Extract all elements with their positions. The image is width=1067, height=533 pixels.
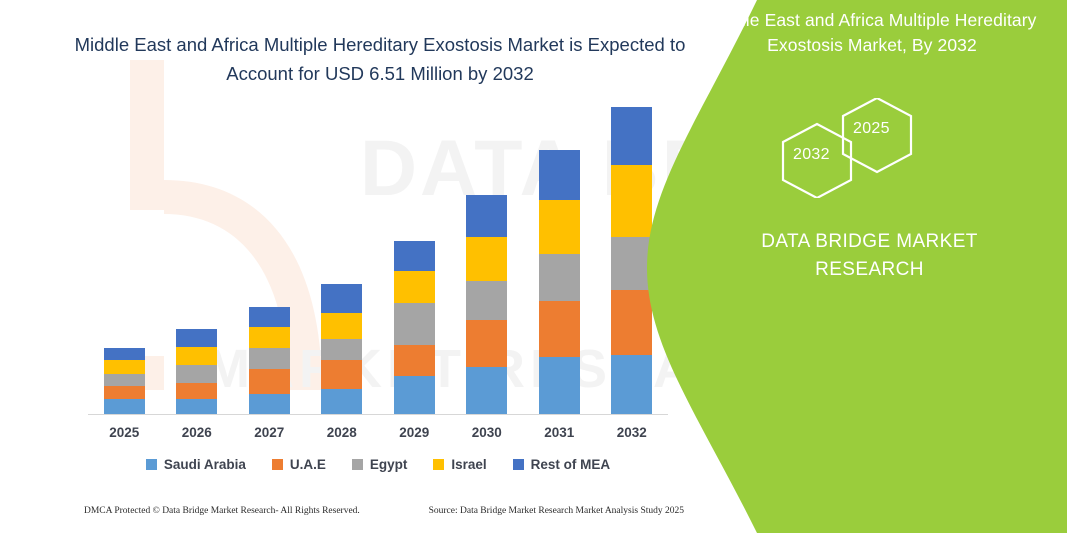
x-tick-2030: 2030	[466, 425, 507, 440]
bar-2026	[176, 329, 217, 415]
hexagon-badges: 2032 2025	[767, 98, 1057, 198]
hex-label-2025: 2025	[853, 120, 890, 138]
bar-segment	[249, 394, 290, 415]
bar-segment	[249, 307, 290, 327]
legend-label: Rest of MEA	[531, 457, 611, 472]
legend-label: U.A.E	[290, 457, 326, 472]
bar-segment	[394, 376, 435, 415]
bar-segment	[539, 254, 580, 301]
bar-2031	[539, 150, 580, 415]
bar-2029	[394, 241, 435, 415]
chart-plot-area	[88, 102, 668, 415]
legend-item[interactable]: U.A.E	[272, 457, 326, 472]
x-tick-2027: 2027	[249, 425, 290, 440]
bar-segment	[394, 345, 435, 376]
bar-segment	[466, 281, 507, 320]
chart-baseline	[88, 414, 668, 415]
bar-segment	[176, 329, 217, 347]
legend-swatch-icon	[513, 459, 524, 470]
bar-segment	[539, 200, 580, 254]
bar-segment	[539, 150, 580, 200]
bar-segment	[321, 389, 362, 415]
bar-segment	[394, 271, 435, 303]
bar-segment	[104, 399, 145, 415]
bar-segment	[321, 313, 362, 339]
bar-segment	[249, 327, 290, 348]
brand-line-1: DATA BRIDGE MARKET	[687, 228, 1052, 256]
legend-swatch-icon	[352, 459, 363, 470]
bar-segment	[104, 360, 145, 373]
bar-segment	[466, 320, 507, 367]
x-tick-2028: 2028	[321, 425, 362, 440]
bar-segment	[321, 284, 362, 313]
bar-segment	[104, 374, 145, 386]
bar-segment	[466, 367, 507, 415]
page-title: Middle East and Africa Multiple Heredita…	[60, 30, 700, 88]
bar-2025	[104, 348, 145, 415]
brand-panel: Middle East and Africa Multiple Heredita…	[647, 0, 1067, 533]
brand-line-2: RESEARCH	[687, 256, 1052, 284]
legend-label: Israel	[451, 457, 486, 472]
bar-segment	[466, 195, 507, 237]
legend-label: Saudi Arabia	[164, 457, 246, 472]
footer: DMCA Protected © Data Bridge Market Rese…	[84, 506, 684, 516]
legend-swatch-icon	[272, 459, 283, 470]
bar-segment	[104, 386, 145, 399]
legend-item[interactable]: Saudi Arabia	[146, 457, 246, 472]
legend-swatch-icon	[146, 459, 157, 470]
bar-segment	[176, 399, 217, 415]
bar-segment	[539, 357, 580, 415]
bar-segment	[321, 360, 362, 389]
bar-segment	[249, 369, 290, 394]
bar-2028	[321, 284, 362, 415]
legend-item[interactable]: Israel	[433, 457, 486, 472]
footer-copyright: DMCA Protected © Data Bridge Market Rese…	[84, 506, 360, 516]
x-axis-labels: 20252026202720282029203020312032	[88, 420, 668, 444]
bar-segment	[249, 348, 290, 369]
stacked-bar-chart	[88, 100, 668, 415]
bar-2027	[249, 307, 290, 415]
market-report-infographic: DATA BRIDGE MARKET RESEARCH Middle East …	[0, 0, 1067, 533]
legend-swatch-icon	[433, 459, 444, 470]
chart-legend: Saudi ArabiaU.A.EEgyptIsraelRest of MEA	[88, 452, 668, 476]
bar-segment	[394, 241, 435, 271]
legend-item[interactable]: Egypt	[352, 457, 408, 472]
bar-segment	[176, 365, 217, 383]
legend-item[interactable]: Rest of MEA	[513, 457, 611, 472]
bar-segment	[176, 383, 217, 400]
bar-segment	[466, 237, 507, 281]
bar-segment	[104, 348, 145, 360]
x-tick-2031: 2031	[539, 425, 580, 440]
hex-label-2032: 2032	[793, 146, 830, 164]
bar-segment	[539, 301, 580, 357]
x-tick-2025: 2025	[104, 425, 145, 440]
x-tick-2026: 2026	[176, 425, 217, 440]
bar-segment	[394, 303, 435, 344]
panel-title: Middle East and Africa Multiple Heredita…	[702, 8, 1042, 58]
brand-name: DATA BRIDGE MARKET RESEARCH	[687, 228, 1052, 284]
bar-segment	[321, 339, 362, 360]
bar-segment	[176, 347, 217, 365]
bar-2030	[466, 195, 507, 415]
x-tick-2029: 2029	[394, 425, 435, 440]
footer-source: Source: Data Bridge Market Research Mark…	[429, 506, 684, 516]
legend-label: Egypt	[370, 457, 408, 472]
